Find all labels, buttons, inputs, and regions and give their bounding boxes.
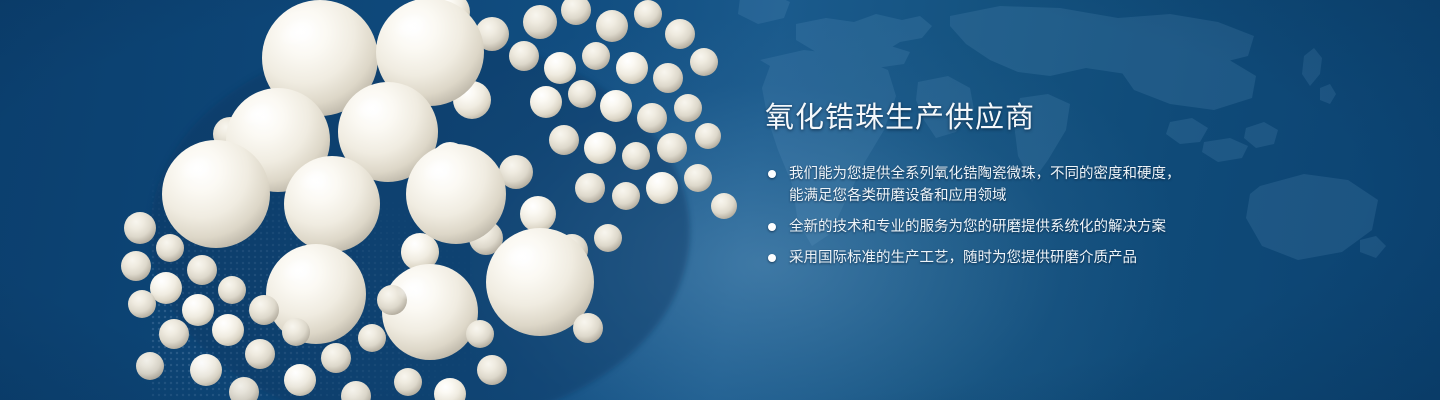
dot-bullet-icon [768, 254, 776, 262]
list-item-line: 采用国际标准的生产工艺，随时为您提供研磨介质产品 [789, 247, 1235, 269]
list-item: 我们能为您提供全系列氧化锆陶瓷微珠，不同的密度和硬度， 能满足您各类研磨设备和应… [765, 163, 1235, 207]
feature-list: 我们能为您提供全系列氧化锆陶瓷微珠，不同的密度和硬度， 能满足您各类研磨设备和应… [765, 163, 1235, 269]
list-item: 全新的技术和专业的服务为您的研磨提供系统化的解决方案 [765, 216, 1235, 238]
list-item-line: 我们能为您提供全系列氧化锆陶瓷微珠，不同的密度和硬度， [789, 163, 1235, 185]
dot-bullet-icon [768, 223, 776, 231]
list-item-line: 全新的技术和专业的服务为您的研磨提供系统化的解决方案 [789, 216, 1235, 238]
page-title: 氧化锆珠生产供应商 [765, 104, 1235, 133]
zirconia-hero-banner: 氧化锆珠生产供应商 我们能为您提供全系列氧化锆陶瓷微珠，不同的密度和硬度， 能满… [0, 0, 1440, 400]
dot-bullet-icon [768, 170, 776, 178]
list-item-line: 能满足您各类研磨设备和应用领域 [789, 185, 1235, 207]
banner-copy: 氧化锆珠生产供应商 我们能为您提供全系列氧化锆陶瓷微珠，不同的密度和硬度， 能满… [765, 104, 1235, 269]
list-item: 采用国际标准的生产工艺，随时为您提供研磨介质产品 [765, 247, 1235, 269]
